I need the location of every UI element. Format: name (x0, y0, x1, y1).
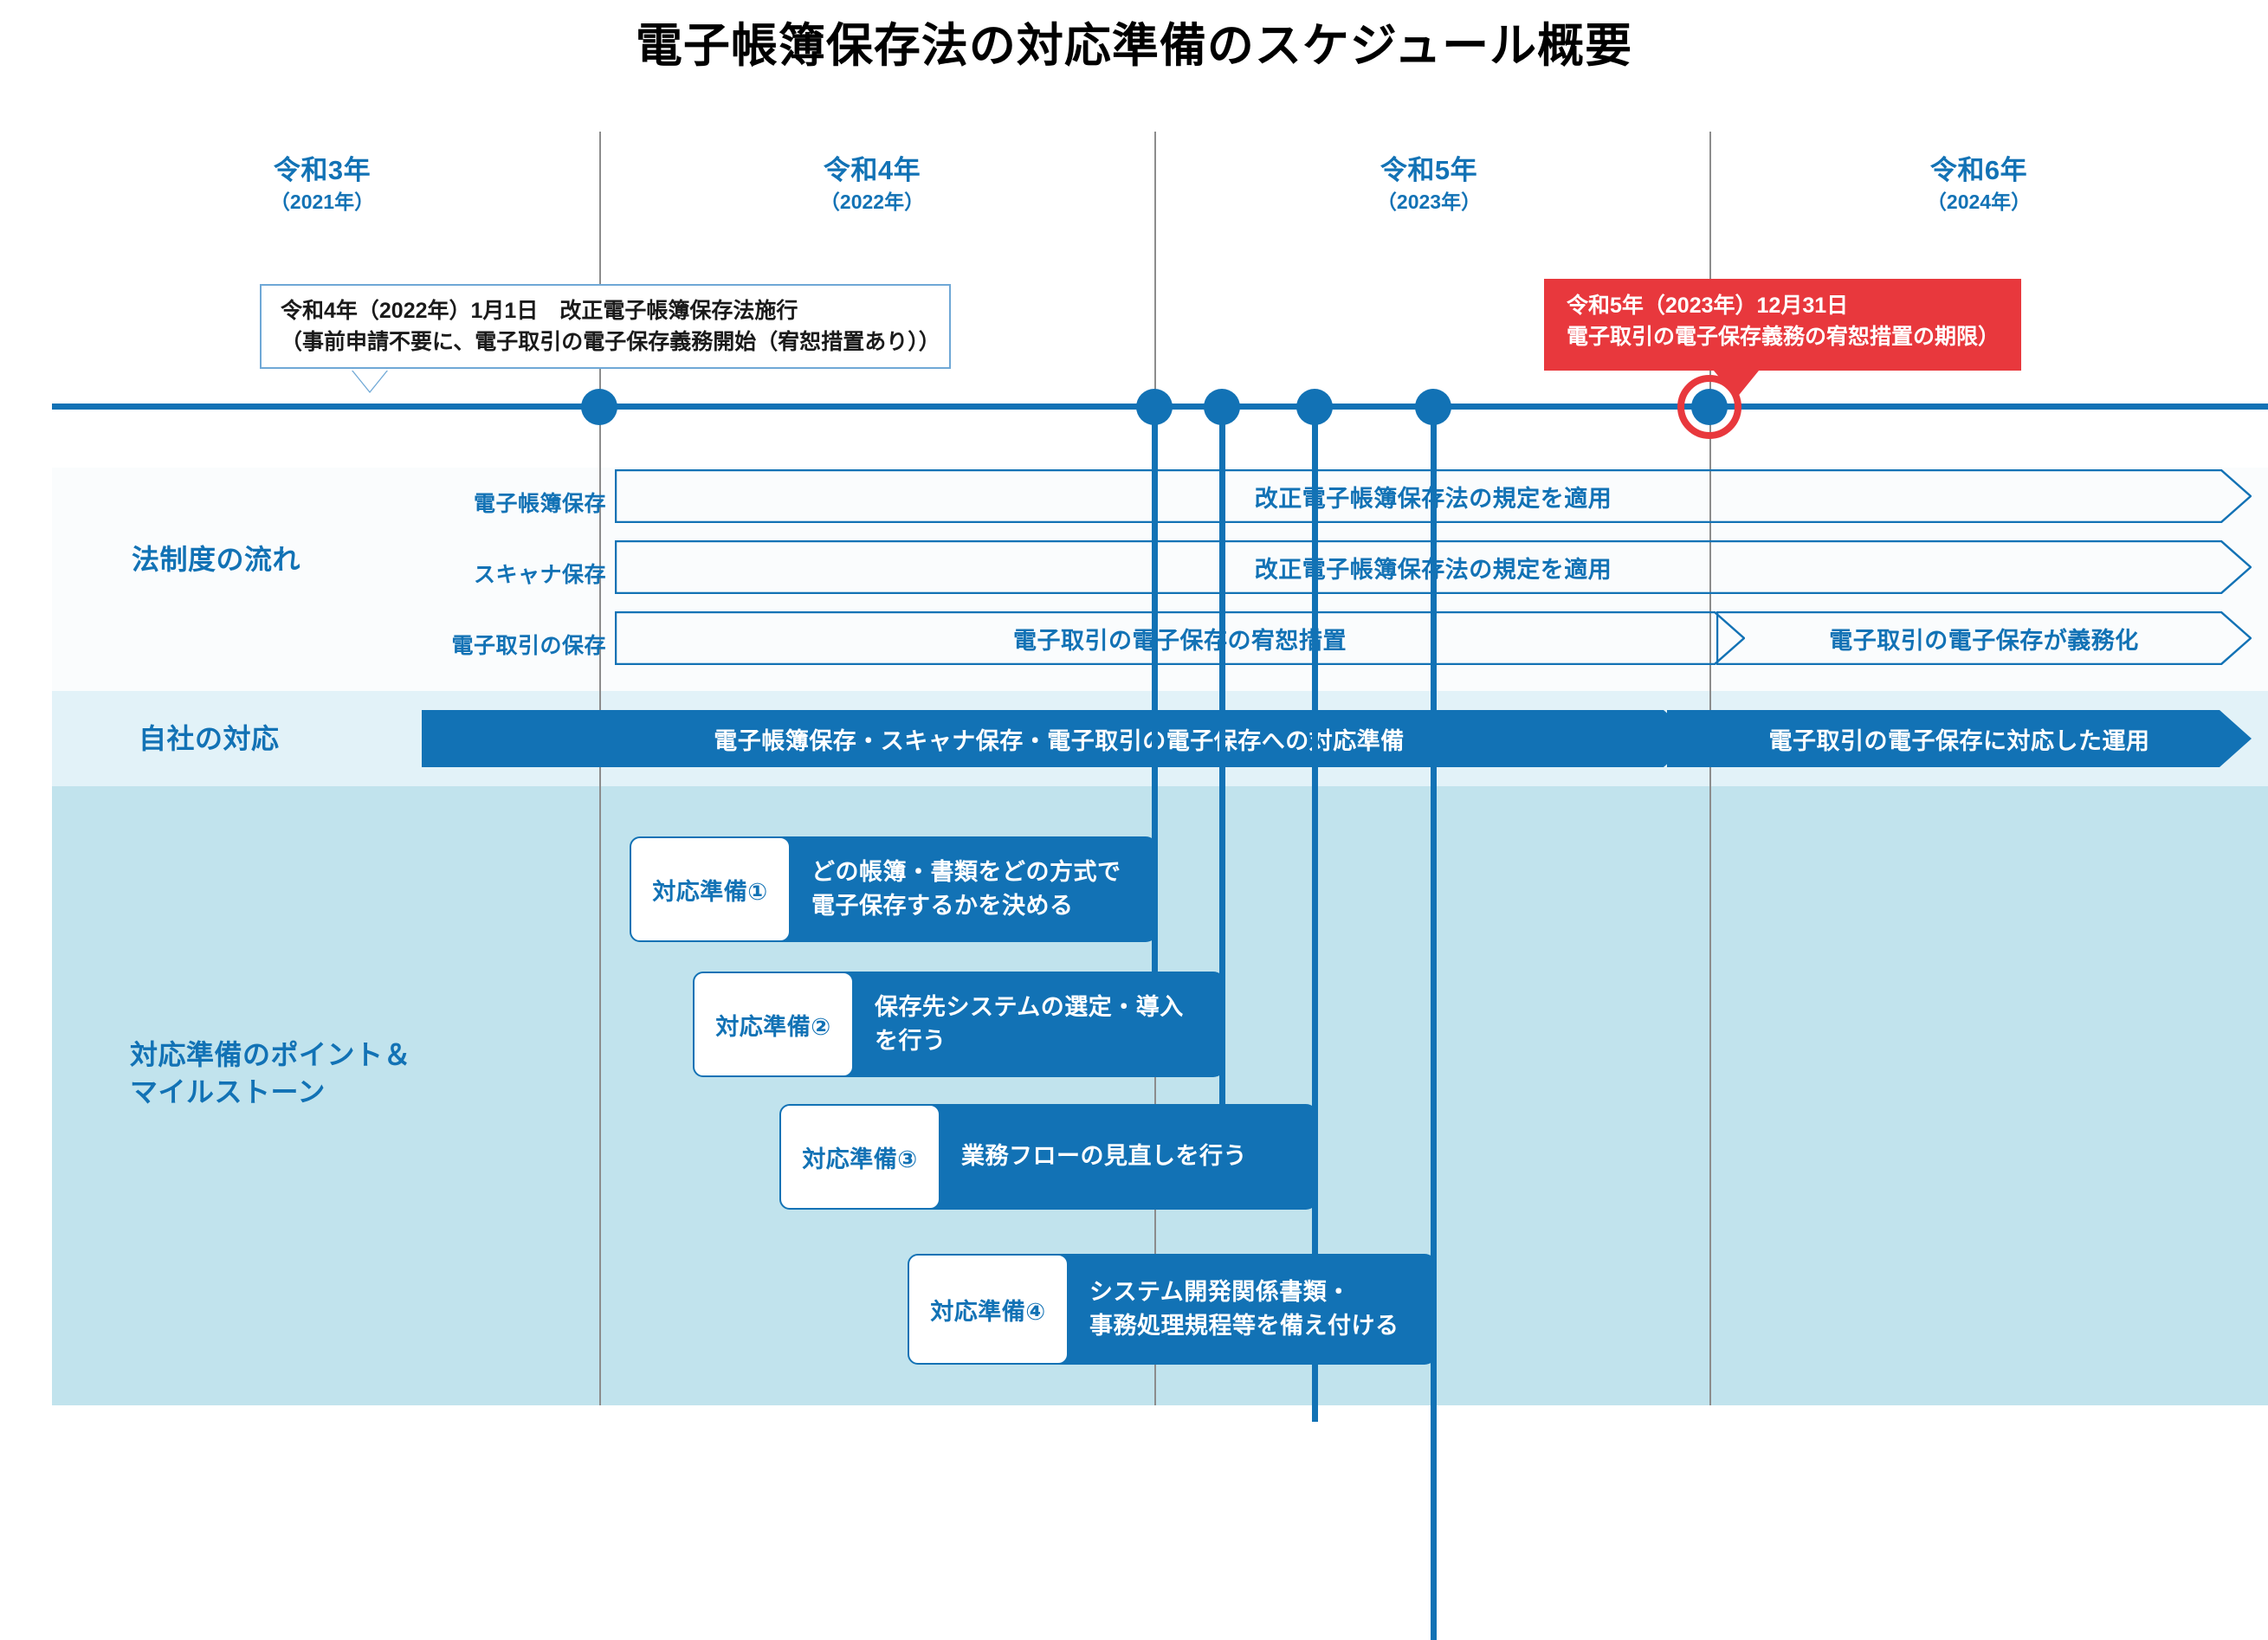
timeline-dot-enforcement[interactable] (581, 389, 617, 425)
timeline-dot-3[interactable] (1296, 389, 1333, 425)
law-bar-3-1: 電子取引の電子保存の宥恕措置 (615, 611, 1745, 665)
section-label-own-response: 自社の対応 (139, 720, 280, 758)
milestone-card-2-text: 保存先システムの選定・導入 を行う (854, 972, 1206, 1077)
section-label-milestones-line1: 対応準備のポイント＆ (130, 1036, 411, 1074)
year-era-label: 令和4年 (742, 154, 1002, 188)
year-era-label: 令和5年 (1299, 154, 1559, 188)
callout-enforcement-line2: （事前申請不要に、電子取引の電子保存義務開始（宥恕措置あり）） (281, 327, 930, 358)
milestone-card-2[interactable]: 対応準備② 保存先システムの選定・導入 を行う (693, 972, 1225, 1077)
milestone-connector-2 (1219, 407, 1225, 1205)
milestone-card-1-text: どの帳簿・書類をどの方式で 電子保存するかを決める (791, 836, 1144, 942)
year-header-2024: 令和6年 （2024年） (1849, 154, 2109, 216)
year-western-label: （2023年） (1299, 188, 1559, 216)
callout-deadline-line2: 電子取引の電子保存義務の宥恕措置の期限） (1567, 322, 1999, 353)
callout-deadline-line1: 令和5年（2023年）12月31日 (1567, 291, 1999, 322)
milestone-card-3-text: 業務フローの見直しを行う (940, 1104, 1270, 1210)
callout-deadline: 令和5年（2023年）12月31日 電子取引の電子保存義務の宥恕措置の期限） (1544, 279, 2021, 371)
timeline-dot-2[interactable] (1204, 389, 1240, 425)
section-label-milestones-line2: マイルストーン (130, 1074, 411, 1111)
milestone-connector-4 (1431, 407, 1437, 1640)
milestone-card-3[interactable]: 対応準備③ 業務フローの見直しを行う (779, 1104, 1318, 1210)
callout-tail-icon (1714, 371, 1759, 398)
milestone-card-3-line1: 業務フローの見直しを行う (961, 1140, 1247, 1173)
year-western-label: （2022年） (742, 188, 1002, 216)
year-western-label: （2021年） (192, 188, 452, 216)
own-response-bar-2: 電子取引の電子保存に対応した運用 (1667, 710, 2252, 767)
law-bar-3-1-label: 電子取引の電子保存の宥恕措置 (1013, 622, 1347, 655)
row-label-denshi-torihiki: 電子取引の保存 (364, 629, 606, 660)
year-header-2023: 令和5年 （2023年） (1299, 154, 1559, 216)
callout-enforcement: 令和4年（2022年）1月1日 改正電子帳簿保存法施行 （事前申請不要に、電子取… (260, 284, 951, 369)
own-response-row: 電子帳簿保存・スキャナ保存・電子取引の電子保存への対応準備 電子取引の電子保存に… (422, 710, 2252, 767)
law-bar-3-2: 電子取引の電子保存が義務化 (1716, 611, 2252, 665)
year-era-label: 令和6年 (1849, 154, 2109, 188)
callout-enforcement-line1: 令和4年（2022年）1月1日 改正電子帳簿保存法施行 (281, 296, 930, 327)
milestone-card-1-line2: 電子保存するかを決める (811, 889, 1121, 923)
milestone-card-3-tag: 対応準備③ (779, 1104, 940, 1210)
milestone-card-4-line1: システム開発関係書類・ (1089, 1275, 1399, 1309)
callout-tail-icon (352, 369, 388, 391)
diagram-canvas: 電子帳簿保存法の対応準備のスケジュール概要 令和3年 （2021年） 令和4年 … (0, 0, 2268, 1414)
row-label-scanner: スキャナ保存 (364, 558, 606, 589)
milestone-card-4-line2: 事務処理規程等を備え付ける (1089, 1309, 1399, 1343)
row-label-denshi-chobo: 電子帳簿保存 (364, 487, 606, 518)
own-response-bar-1: 電子帳簿保存・スキャナ保存・電子取引の電子保存への対応準備 (422, 710, 1696, 767)
section-label-milestones: 対応準備のポイント＆ マイルストーン (130, 1036, 411, 1111)
milestone-card-2-line2: を行う (875, 1024, 1184, 1058)
timeline-dot-4[interactable] (1415, 389, 1451, 425)
section-label-law: 法制度の流れ (132, 541, 300, 578)
year-header-2022: 令和4年 （2022年） (742, 154, 1002, 216)
year-western-label: （2024年） (1849, 188, 2109, 216)
year-header-2021: 令和3年 （2021年） (192, 154, 452, 216)
milestone-card-1-tag: 対応準備① (630, 836, 791, 942)
milestone-card-1-line1: どの帳簿・書類をどの方式で (811, 856, 1121, 889)
law-bar-3-2-label: 電子取引の電子保存が義務化 (1829, 622, 2139, 655)
year-era-label: 令和3年 (192, 154, 452, 188)
milestone-card-2-line1: 保存先システムの選定・導入 (875, 991, 1184, 1024)
own-response-bar-2-label: 電子取引の電子保存に対応した運用 (1769, 722, 2150, 756)
milestone-card-1[interactable]: 対応準備① どの帳簿・書類をどの方式で 電子保存するかを決める (630, 836, 1158, 942)
page-title: 電子帳簿保存法の対応準備のスケジュール概要 (0, 7, 2268, 75)
own-response-bar-1-label: 電子帳簿保存・スキャナ保存・電子取引の電子保存への対応準備 (714, 722, 1405, 756)
milestone-card-4-tag: 対応準備④ (908, 1254, 1069, 1365)
milestone-card-4-text: システム開発関係書類・ 事務処理規程等を備え付ける (1069, 1254, 1422, 1365)
milestone-card-4[interactable]: 対応準備④ システム開発関係書類・ 事務処理規程等を備え付ける (908, 1254, 1437, 1365)
milestone-card-2-tag: 対応準備② (693, 972, 854, 1077)
timeline-dot-1[interactable] (1136, 389, 1173, 425)
